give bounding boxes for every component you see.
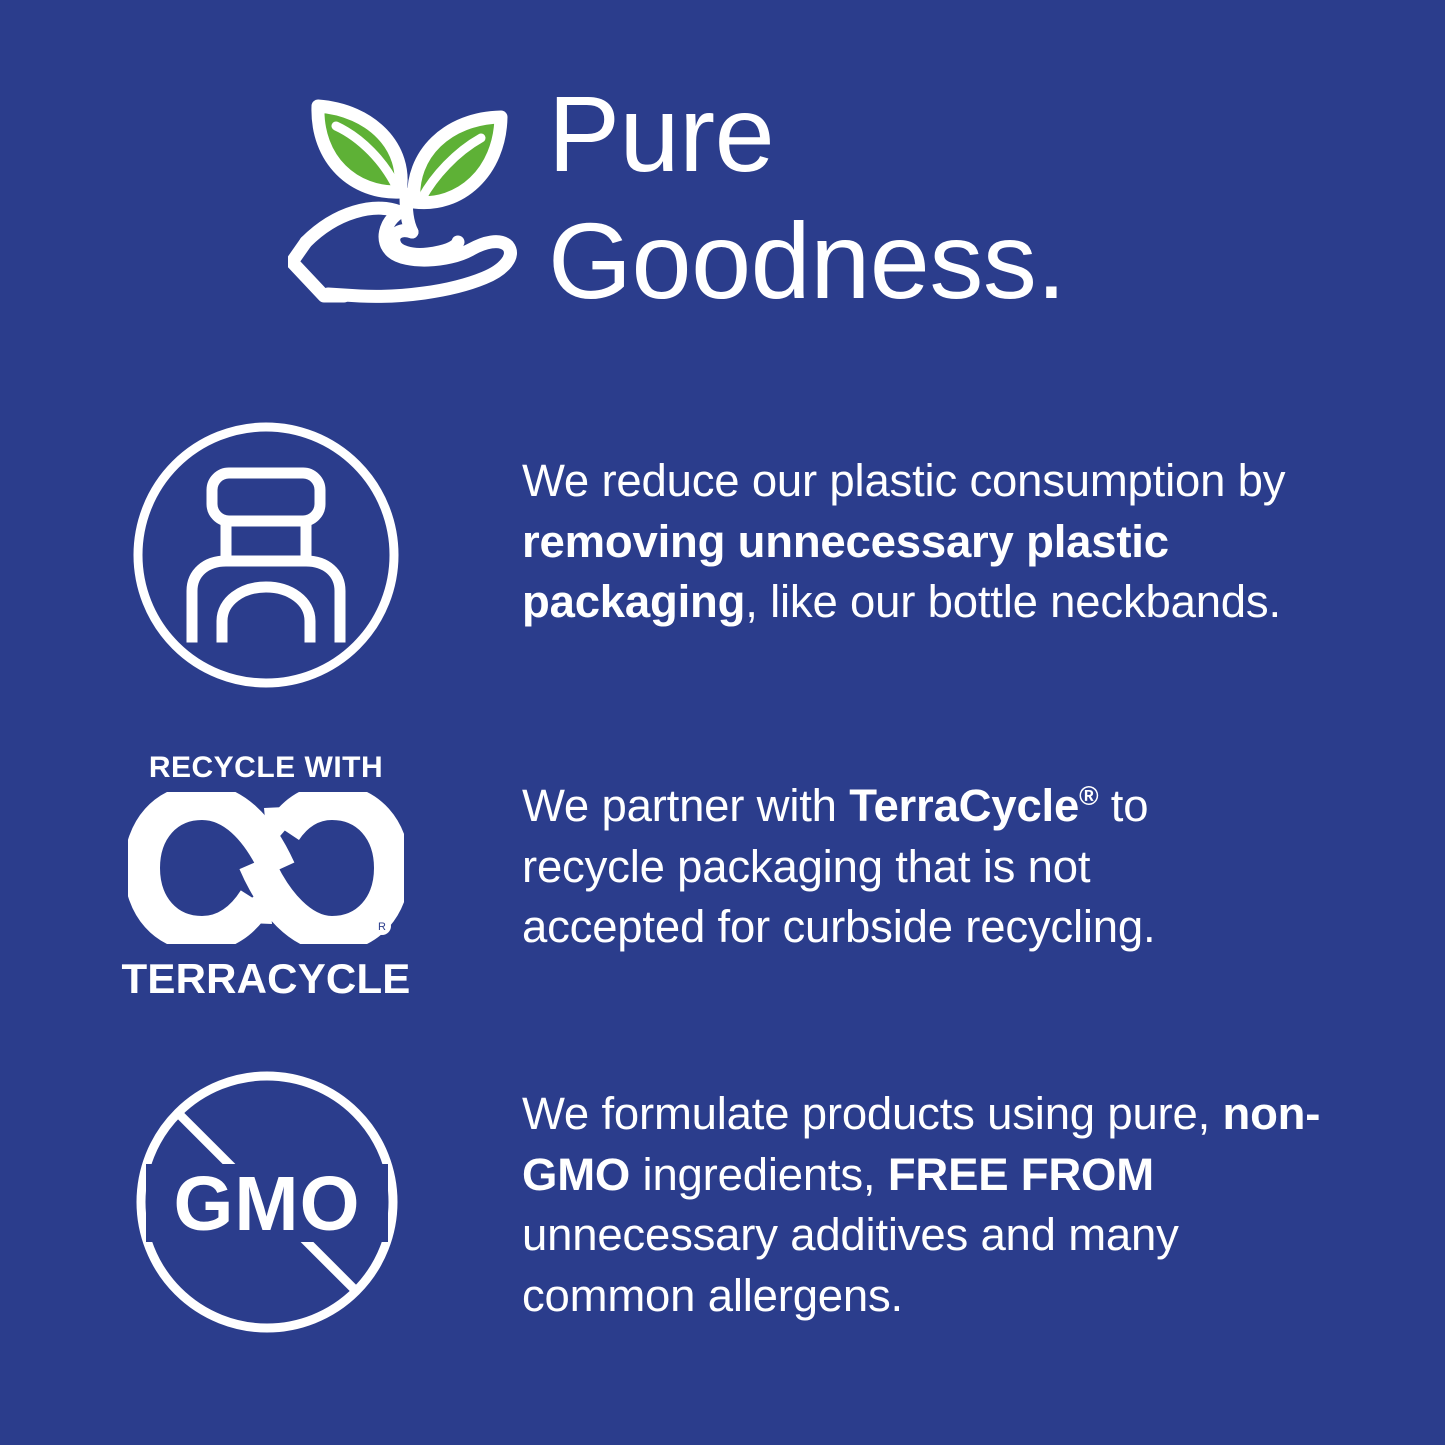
feature-row-terracycle: RECYCLE WITH xyxy=(128,748,1282,1006)
feature-row-non-gmo: GMO We formulate products using pure, no… xyxy=(136,1068,1362,1340)
header: Pure Goodness. xyxy=(288,70,1288,330)
registered-mark: ® xyxy=(1079,781,1098,811)
bottle-neckband-circle-icon xyxy=(130,415,402,695)
no-gmo-circle-icon: GMO xyxy=(136,1068,398,1340)
page-title: Pure Goodness. xyxy=(548,70,1066,325)
feature-row-plastic-reduction: We reduce our plastic consumption by rem… xyxy=(130,415,1402,695)
text-segment: We partner with xyxy=(522,780,849,831)
text-segment: We formulate products using pure, xyxy=(522,1088,1223,1139)
terracycle-recycle-badge: RECYCLE WITH xyxy=(128,748,404,1006)
gmo-label: GMO xyxy=(174,1161,361,1247)
terracycle-bottom-label: TERRACYCLE xyxy=(122,955,411,1003)
text-segment: We reduce our plastic consumption by xyxy=(522,455,1285,506)
feature-text-terracycle: We partner with TerraCycle® to recycle p… xyxy=(522,776,1282,958)
feature-text-non-gmo: We formulate products using pure, non-GM… xyxy=(522,1084,1362,1326)
infinity-recycle-loop-icon: R xyxy=(128,792,404,949)
text-segment: , like our bottle neckbands. xyxy=(745,576,1281,627)
feature-text-plastic-reduction: We reduce our plastic consumption by rem… xyxy=(522,451,1402,633)
terracycle-top-label: RECYCLE WITH xyxy=(149,751,383,785)
text-segment-bold: TerraCycle xyxy=(849,780,1079,831)
hand-holding-sprout-icon xyxy=(288,82,526,307)
text-segment: ingredients, xyxy=(630,1149,888,1200)
text-segment: unnecessary additives and many common al… xyxy=(522,1209,1179,1321)
text-segment-bold: FREE FROM xyxy=(888,1149,1154,1200)
terracycle-registered-mark: R xyxy=(378,921,386,933)
pure-goodness-infographic: Pure Goodness. We reduce our plastic con… xyxy=(0,0,1445,1445)
